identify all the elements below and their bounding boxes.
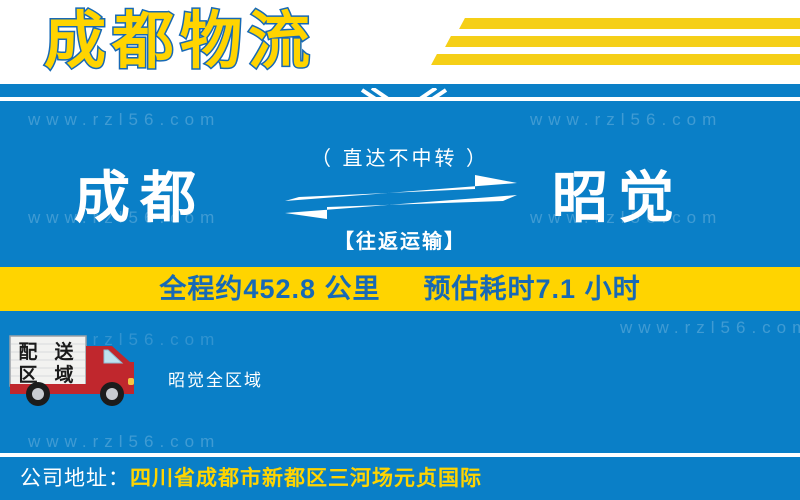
distance-text: 全程约452.8 公里 — [159, 274, 380, 304]
header-band: 成都物流 — [0, 0, 800, 84]
round-trip-note: 【往返运输】 — [282, 225, 518, 254]
stats-text: 全程约452.8 公里 预估耗时7.1 小时 — [0, 267, 800, 311]
duration-text: 预估耗时7.1 小时 — [424, 274, 641, 304]
origin-city: 成都 — [74, 168, 206, 228]
logistics-poster: 成都物流 www.rzl56.com www.rzl56.com www.rzl… — [0, 0, 800, 500]
svg-text:域: 域 — [54, 363, 73, 386]
decorative-stripes — [400, 14, 800, 76]
stripe-3 — [431, 54, 800, 65]
destination-city: 昭觉 — [552, 168, 684, 228]
coverage-area-label: 昭觉全区域 — [168, 366, 263, 391]
svg-text:配: 配 — [18, 341, 37, 363]
address-label: 公司地址： — [20, 467, 130, 490]
page-title: 成都物流 — [44, 2, 316, 82]
address-text: 公司地址：四川省成都市新都区三河场元贞国际 — [20, 457, 482, 500]
bidirectional-arrow-icon — [285, 175, 517, 219]
svg-text:送: 送 — [54, 340, 74, 363]
stripe-2 — [445, 36, 800, 47]
direct-route-note: （ 直达不中转 ） — [282, 142, 518, 171]
delivery-truck-icon: 配 送 区 域 — [8, 332, 144, 408]
address-value: 四川省成都市新都区三河场元贞国际 — [130, 467, 482, 490]
stripe-1 — [459, 18, 800, 29]
